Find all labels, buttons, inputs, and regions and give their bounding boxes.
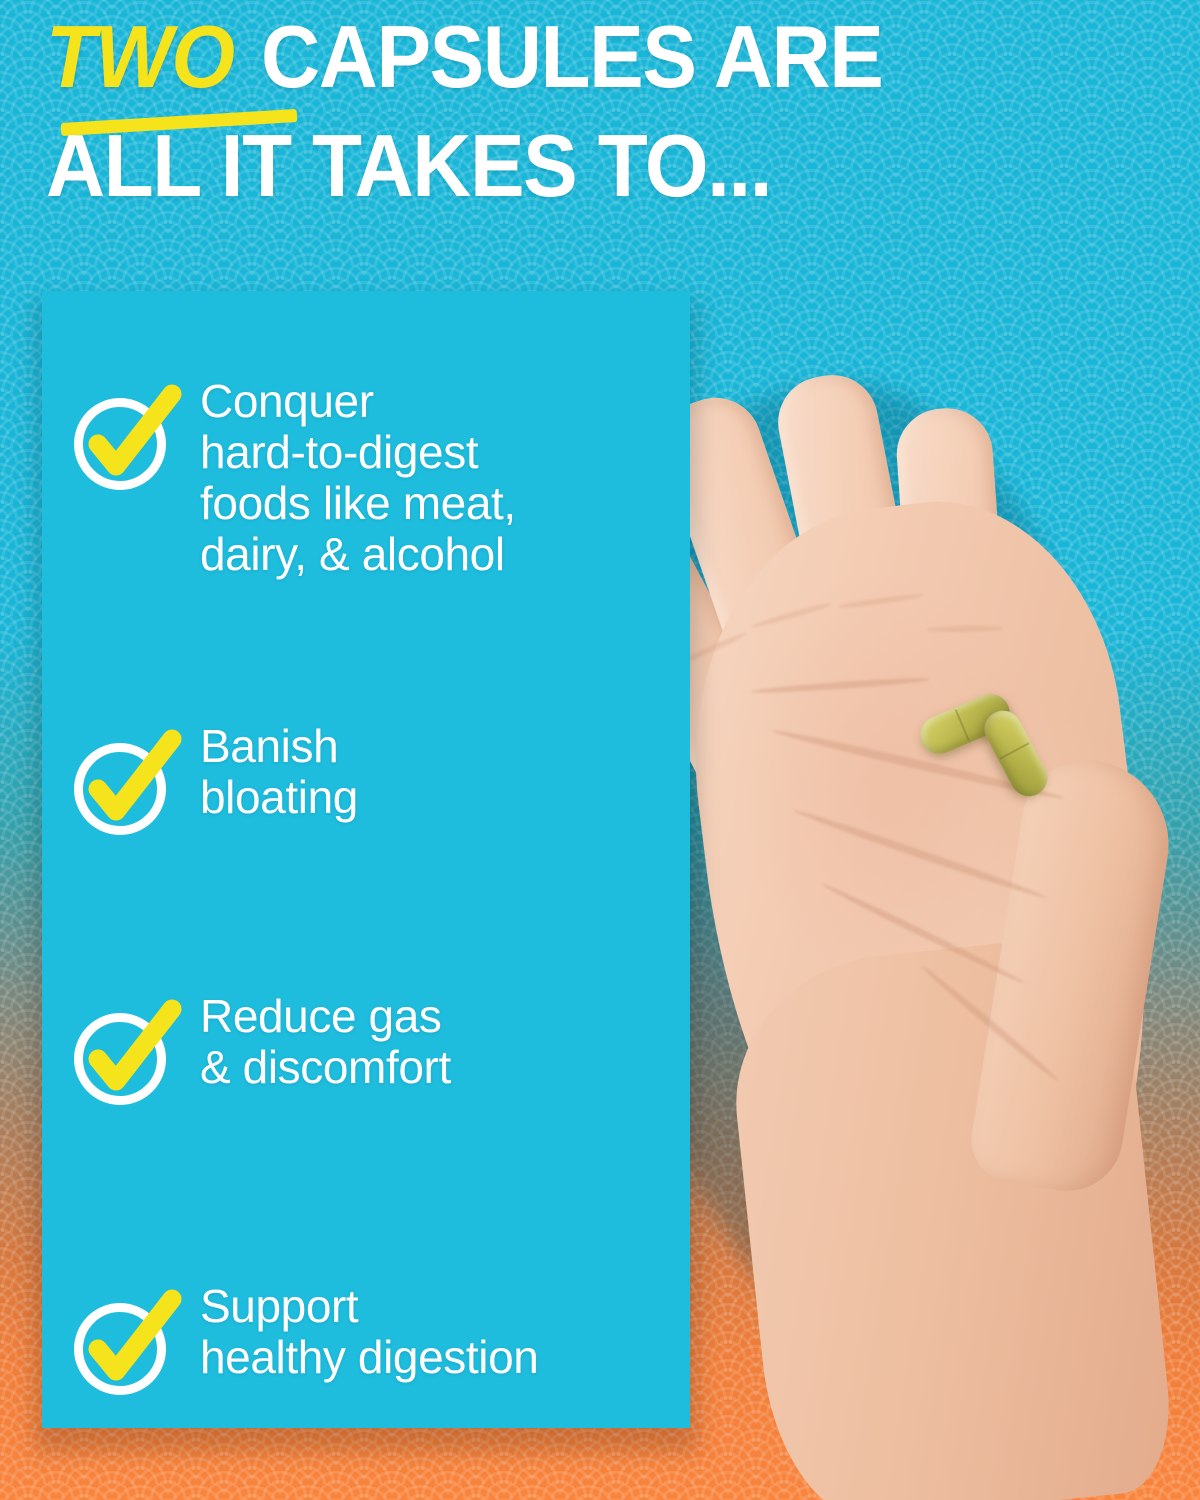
checkmark-glyph [68,1289,178,1399]
headline-emphasis-word: TWO [46,16,240,99]
headline-line-2: ALL IT TAKES TO... [46,125,1088,208]
benefit-label: Conquer hard-to-digest foods like meat, … [200,374,516,580]
check-circle-icon [68,999,178,1109]
checkmark-glyph [68,384,178,494]
benefits-panel: Conquer hard-to-digest foods like meat, … [42,291,690,1428]
headline-line-1: TWO CAPSULES ARE [46,16,1088,99]
benefit-item-banish-bloating: Banish bloating [68,719,688,839]
check-circle-icon [68,729,178,839]
benefit-label: Support healthy digestion [200,1279,538,1383]
benefit-item-reduce-gas: Reduce gas & discomfort [68,989,688,1109]
benefit-label: Reduce gas & discomfort [200,989,451,1093]
benefit-item-conquer-foods: Conquer hard-to-digest foods like meat, … [68,374,688,580]
benefit-label: Banish bloating [200,719,358,823]
benefit-item-support-digestion: Support healthy digestion [68,1279,688,1399]
benefits-list: Conquer hard-to-digest foods like meat, … [42,329,690,1428]
promo-graphic: TWO CAPSULES ARE ALL IT TAKES TO... Conq… [0,0,1200,1500]
headline-line-1-rest: CAPSULES ARE [240,7,883,106]
check-circle-icon [68,1289,178,1399]
checkmark-glyph [68,999,178,1109]
checkmark-glyph [68,729,178,839]
check-circle-icon [68,384,178,494]
headline: TWO CAPSULES ARE ALL IT TAKES TO... [46,16,1166,207]
